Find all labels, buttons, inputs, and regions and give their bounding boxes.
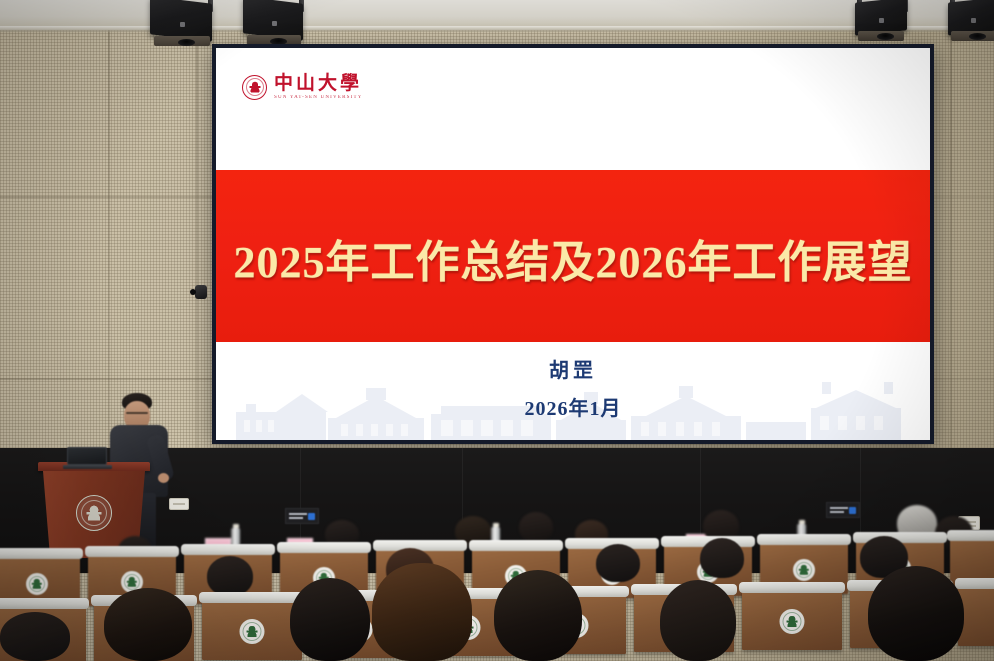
audience-head (868, 566, 964, 661)
auditorium-seat[interactable] (742, 590, 842, 650)
university-name-en: SUN YAT-SEN UNIVERSITY (274, 95, 363, 100)
auditorium-seat[interactable] (202, 600, 302, 660)
seat-university-seal-icon (240, 619, 265, 644)
slide-title: 2025年工作总结及2026年工作展望 (216, 226, 930, 290)
audience-head (494, 570, 582, 661)
auditorium-photo: 中山大學 SUN YAT-SEN UNIVERSITY 2025年工作总结及20… (0, 0, 994, 661)
university-name-cn: 中山大學 (274, 74, 363, 93)
university-seal-icon (242, 75, 267, 100)
wall-camera-icon (195, 285, 207, 299)
audience-head (700, 538, 744, 578)
seat-university-seal-icon (26, 573, 48, 595)
stage-label-sign (285, 508, 319, 524)
seat-university-seal-icon (793, 559, 815, 581)
audience-head (0, 612, 70, 661)
audience-head (596, 544, 640, 582)
university-logo: 中山大學 SUN YAT-SEN UNIVERSITY (242, 74, 363, 100)
audience-head (290, 578, 370, 661)
stage-label-sign (826, 502, 860, 518)
slide-presenter-name: 胡罡 (216, 354, 930, 383)
screen-surface: 中山大學 SUN YAT-SEN UNIVERSITY 2025年工作总结及20… (216, 48, 930, 440)
audience-head (207, 556, 253, 596)
podium-university-seal-icon (76, 495, 112, 531)
seat-university-seal-icon (780, 609, 805, 634)
audience-head (519, 512, 553, 542)
slide-date: 2026年1月 (216, 392, 930, 421)
audience-head (372, 563, 472, 661)
laptop[interactable] (67, 447, 107, 465)
audience-head (104, 588, 192, 661)
audience-head (660, 580, 736, 661)
presentation-screen[interactable]: 中山大學 SUN YAT-SEN UNIVERSITY 2025年工作总结及20… (212, 44, 934, 444)
title-slide: 中山大學 SUN YAT-SEN UNIVERSITY 2025年工作总结及20… (216, 48, 930, 440)
